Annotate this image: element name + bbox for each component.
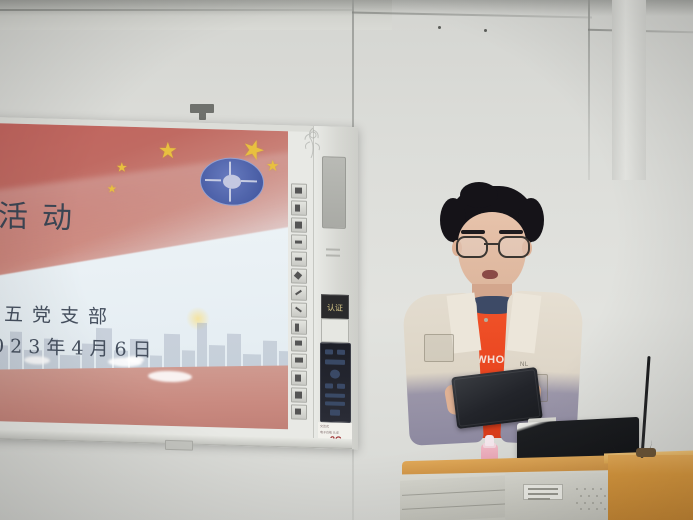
classroom-scene: ★ ★ ★ ★ ★ bbox=[0, 0, 693, 520]
whiteboard-tray-clip bbox=[165, 440, 193, 451]
wall-fixing-dot-2 bbox=[484, 29, 487, 32]
tool-pen-icon[interactable] bbox=[291, 268, 307, 283]
bezel-line-1 bbox=[326, 248, 340, 250]
flag-star-2: ★ bbox=[116, 160, 128, 173]
ceiling-mount-stem bbox=[199, 112, 206, 120]
wall-trim-rail bbox=[0, 9, 352, 11]
panel-key-power[interactable] bbox=[330, 369, 340, 378]
interactive-whiteboard[interactable]: ★ ★ ★ ★ ★ bbox=[0, 117, 358, 449]
glasses-lens-right bbox=[498, 236, 530, 258]
emblem-spoke-w bbox=[205, 179, 221, 181]
panel-key-5[interactable] bbox=[337, 384, 345, 389]
glasses-lens-left bbox=[456, 236, 488, 258]
amplifier-label-plate bbox=[523, 484, 563, 500]
tool-text-icon[interactable] bbox=[291, 370, 307, 385]
tool-select-icon[interactable] bbox=[291, 183, 307, 198]
tool-settings-icon[interactable] bbox=[291, 404, 307, 419]
whiteboard-control-panel[interactable] bbox=[320, 342, 351, 423]
panel-key-3[interactable] bbox=[325, 359, 345, 365]
bottle-cap[interactable] bbox=[485, 435, 494, 446]
panel-key-8[interactable] bbox=[330, 409, 340, 415]
tool-arrow-right-icon[interactable] bbox=[291, 251, 307, 266]
flag-star-1: ★ bbox=[158, 140, 178, 163]
tool-shape-icon[interactable] bbox=[291, 302, 307, 317]
emblem-spoke-s bbox=[229, 189, 231, 202]
tool-eraser-icon[interactable] bbox=[291, 336, 307, 351]
tool-line-icon[interactable] bbox=[291, 285, 307, 300]
projection-screen: ★ ★ ★ ★ ★ bbox=[0, 123, 288, 429]
whiteboard-side-toolbar[interactable] bbox=[291, 183, 307, 419]
tool-highlighter-icon[interactable] bbox=[291, 319, 307, 334]
presenter-mouth bbox=[482, 270, 498, 279]
panel-key-7[interactable] bbox=[325, 401, 345, 406]
tool-arrow-left-icon[interactable] bbox=[291, 234, 307, 249]
board-hand-graphic bbox=[321, 318, 349, 343]
hair-top-tuft bbox=[460, 182, 498, 208]
side-wooden-desk bbox=[608, 455, 693, 520]
tool-grid-icon[interactable] bbox=[291, 217, 307, 232]
slide-date: 2023年4月6日 bbox=[0, 330, 158, 362]
panel-key-1[interactable] bbox=[325, 349, 333, 354]
flag-star-5: ★ bbox=[266, 159, 279, 174]
board-speaker-grille bbox=[322, 156, 346, 229]
eyebrow-right bbox=[499, 230, 523, 234]
wall-fixing-dot-1 bbox=[438, 26, 441, 29]
slide-title: 活动 bbox=[0, 191, 86, 237]
bezel-line-2 bbox=[326, 254, 340, 256]
emblem-spoke-n bbox=[229, 162, 231, 176]
tool-page-icon[interactable] bbox=[291, 200, 307, 215]
eyebrow-left bbox=[461, 230, 485, 234]
panel-key-6[interactable] bbox=[325, 393, 345, 398]
flag-star-3: ★ bbox=[107, 184, 117, 195]
panel-key-2[interactable] bbox=[337, 350, 345, 355]
jacket-pocket-left bbox=[424, 334, 454, 362]
board-brand-mark: 认证 bbox=[327, 302, 343, 313]
round-eyeglasses bbox=[454, 236, 530, 254]
tool-save-icon[interactable] bbox=[291, 387, 307, 402]
emblem-spoke-e bbox=[241, 180, 257, 182]
microphone-base bbox=[636, 448, 656, 457]
podium-front-face bbox=[400, 475, 510, 520]
tool-stamp-icon[interactable] bbox=[291, 353, 307, 368]
wall-seam-vertical-right bbox=[588, 0, 590, 180]
emblem-hub bbox=[223, 174, 241, 189]
wall-pillar bbox=[612, 0, 646, 180]
panel-key-4[interactable] bbox=[325, 383, 333, 388]
board-brand-logo: 认证 bbox=[321, 294, 349, 321]
jacket-button-1 bbox=[484, 318, 488, 322]
whiteboard-right-bezel: 认证 交互式 电子白板 认证 3C bbox=[313, 126, 358, 449]
decorative-floral-sticker bbox=[298, 124, 328, 161]
tablet-bezel bbox=[453, 369, 540, 427]
slide-ground-band bbox=[0, 365, 288, 429]
slide-organization: 第五党支部 bbox=[0, 299, 116, 330]
